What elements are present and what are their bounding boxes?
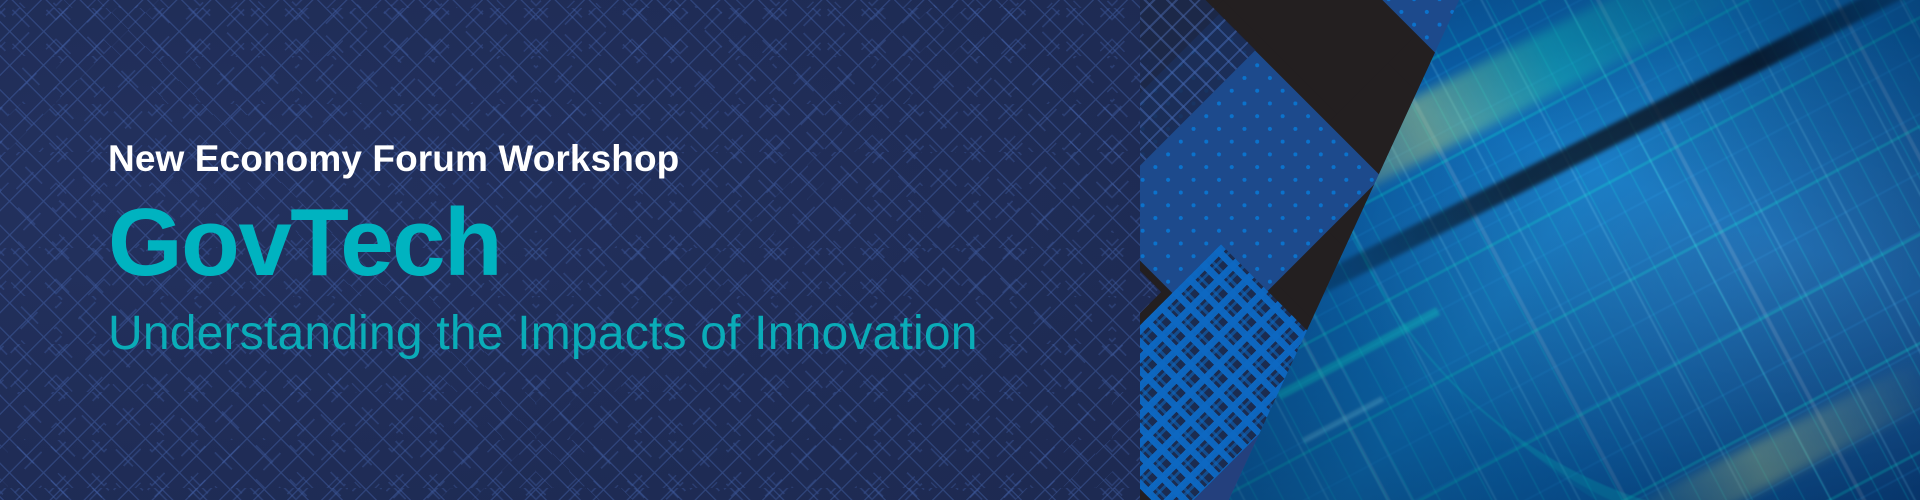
- banner-eyebrow: New Economy Forum Workshop: [108, 139, 978, 180]
- banner-text-block: New Economy Forum Workshop GovTech Under…: [108, 0, 978, 500]
- banner-subtitle: Understanding the Impacts of Innovation: [108, 308, 978, 361]
- page-title: GovTech: [108, 194, 978, 292]
- govtech-workshop-banner: New Economy Forum Workshop GovTech Under…: [0, 0, 1920, 500]
